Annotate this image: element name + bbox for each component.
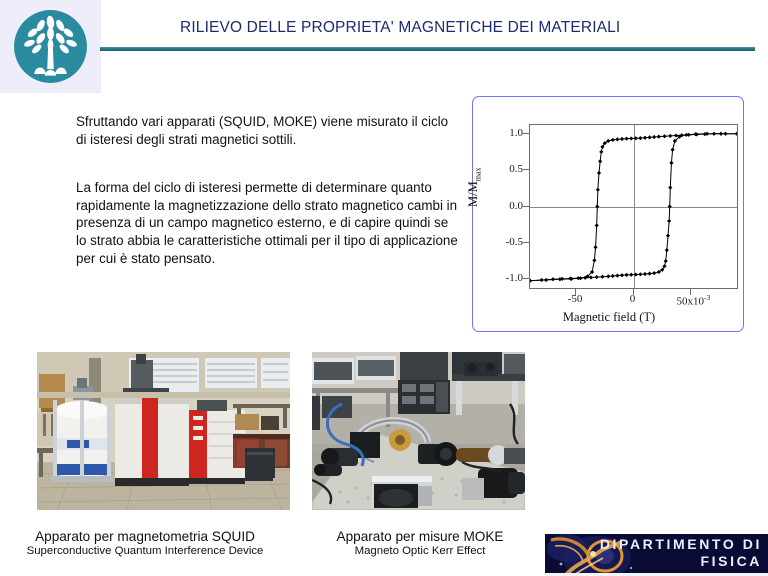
y-tick-mark	[523, 278, 529, 279]
x-axis-label: Magnetic field (T)	[473, 310, 745, 325]
data-point	[665, 248, 669, 252]
data-point	[530, 279, 532, 283]
title-divider	[100, 47, 755, 51]
data-point	[611, 138, 615, 142]
y-tick-label: -1.0	[506, 272, 523, 284]
data-point	[634, 272, 638, 276]
data-point	[595, 223, 599, 227]
x-tick-mark	[633, 289, 634, 295]
department-line-2: FISICA	[600, 553, 762, 570]
y-tick-label: 1.0	[509, 127, 523, 139]
data-point	[667, 219, 671, 223]
data-point	[596, 188, 600, 192]
data-point	[615, 137, 619, 141]
y-tick-mark	[523, 242, 529, 243]
data-point	[539, 278, 543, 282]
data-point	[652, 135, 656, 139]
data-point	[551, 277, 555, 281]
department-line-1: DIPARTIMENTO DI	[600, 536, 762, 553]
plot-frame	[529, 124, 738, 289]
y-tick-label: 0.5	[509, 163, 523, 175]
moke-caption-subtitle: Magneto Optic Kerr Effect	[310, 545, 530, 557]
moke-apparatus-photo	[312, 352, 525, 510]
moke-caption-title: Apparato per misure MOKE	[310, 529, 530, 544]
paragraph-2: La forma del ciclo di isteresi permette …	[76, 179, 458, 267]
x-tick-mark	[690, 289, 691, 295]
squid-caption-title: Apparato per magnetometria SQUID	[0, 529, 290, 544]
data-point	[735, 132, 737, 136]
data-point	[597, 171, 601, 175]
x-tick-mark	[575, 289, 576, 295]
data-point	[595, 275, 599, 279]
data-point	[625, 137, 629, 141]
y-tick-mark	[523, 133, 529, 134]
data-point	[595, 204, 599, 208]
data-point	[638, 136, 642, 140]
data-point	[666, 234, 670, 238]
department-logo-banner: DIPARTIMENTO DI FISICA	[545, 534, 768, 576]
data-point	[589, 275, 593, 279]
data-point	[664, 259, 668, 263]
data-point	[669, 161, 673, 165]
data-point	[643, 272, 647, 276]
data-point	[620, 273, 624, 277]
y-axis-label: M/Mmax	[466, 168, 483, 207]
y-tick-mark	[523, 206, 529, 207]
data-point	[638, 272, 642, 276]
data-point	[600, 275, 604, 279]
data-point	[634, 136, 638, 140]
data-point	[668, 185, 672, 189]
y-axis-label-base: M/M	[466, 181, 480, 207]
department-name: DIPARTIMENTO DI FISICA	[600, 536, 762, 570]
hysteresis-loop-curve	[530, 125, 737, 288]
data-point	[719, 132, 723, 136]
data-point	[648, 135, 652, 139]
data-point	[625, 273, 629, 277]
hysteresis-chart-panel: 1.00.50.0-0.5-1.0 -50050x10-3 M/Mmax Mag…	[472, 96, 744, 332]
squid-apparatus-photo	[37, 352, 290, 510]
data-point	[615, 274, 619, 278]
y-axis-label-subscript: max	[474, 168, 483, 182]
data-point	[629, 273, 633, 277]
data-point	[643, 136, 647, 140]
data-point	[593, 245, 597, 249]
data-point	[598, 159, 602, 163]
curve-branch-descending	[530, 134, 737, 281]
data-point	[652, 271, 656, 275]
data-point	[592, 258, 596, 262]
data-point	[671, 148, 675, 152]
x-tick-label: 50x10-3	[677, 293, 711, 308]
data-point	[620, 137, 624, 141]
data-point	[611, 274, 615, 278]
data-point	[576, 276, 580, 280]
body-text-block: Sfruttando vari apparati (SQUID, MOKE) v…	[76, 113, 458, 267]
data-point	[606, 274, 610, 278]
y-tick-mark	[523, 169, 529, 170]
data-point	[668, 134, 672, 138]
data-point	[657, 135, 661, 139]
y-tick-label: -0.5	[506, 236, 523, 248]
squid-caption-subtitle: Superconductive Quantum Interference Dev…	[0, 545, 290, 557]
data-point	[599, 150, 603, 154]
page-title: RILIEVO DELLE PROPRIETA' MAGNETICHE DEI …	[180, 19, 750, 37]
y-tick-label: 0.0	[509, 200, 523, 212]
university-tree-logo-icon	[9, 6, 92, 87]
x-tick-exponent: -3	[704, 293, 710, 302]
hysteresis-chart: 1.00.50.0-0.5-1.0 -50050x10-3 M/Mmax Mag…	[473, 97, 745, 333]
data-point	[674, 133, 678, 137]
data-point	[668, 204, 672, 208]
data-point	[648, 271, 652, 275]
paragraph-1: Sfruttando vari apparati (SQUID, MOKE) v…	[76, 113, 458, 148]
curve-branch-ascending	[530, 134, 737, 281]
data-point	[684, 133, 688, 137]
data-point	[629, 136, 633, 140]
data-point	[662, 134, 666, 138]
